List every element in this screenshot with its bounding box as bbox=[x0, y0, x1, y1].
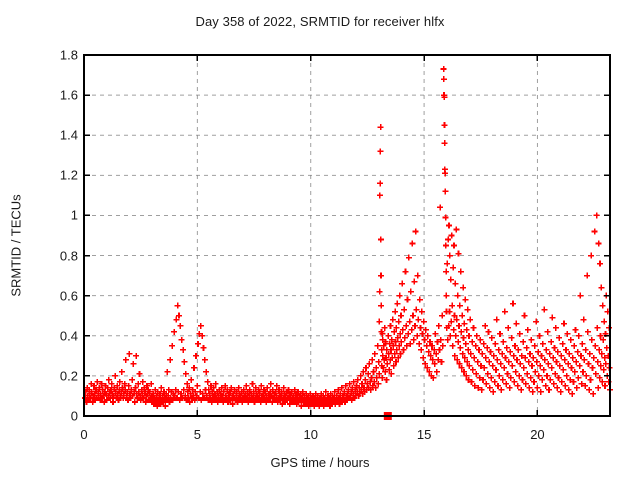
y-axis-tick-labels: 00.20.40.60.811.21.41.61.8 bbox=[0, 0, 78, 480]
chart-figure: Day 358 of 2022, SRMTID for receiver hlf… bbox=[0, 0, 640, 480]
x-tick-label: 0 bbox=[80, 427, 87, 442]
y-tick-label: 1.6 bbox=[32, 88, 78, 103]
y-tick-label: 1.4 bbox=[32, 128, 78, 143]
y-tick-label: 1 bbox=[32, 208, 78, 223]
y-tick-label: 0.8 bbox=[32, 248, 78, 263]
x-tick-label: 10 bbox=[303, 427, 317, 442]
y-tick-label: 0.6 bbox=[32, 288, 78, 303]
x-axis-label: GPS time / hours bbox=[0, 455, 640, 470]
x-tick-label: 5 bbox=[194, 427, 201, 442]
plot-canvas bbox=[0, 0, 640, 480]
y-tick-label: 0 bbox=[32, 409, 78, 424]
chart-title: Day 358 of 2022, SRMTID for receiver hlf… bbox=[0, 14, 640, 29]
x-tick-label: 20 bbox=[530, 427, 544, 442]
y-tick-label: 0.4 bbox=[32, 328, 78, 343]
y-tick-label: 1.2 bbox=[32, 168, 78, 183]
x-tick-label: 15 bbox=[417, 427, 431, 442]
y-tick-label: 0.2 bbox=[32, 368, 78, 383]
data-points bbox=[82, 66, 613, 419]
y-tick-label: 1.8 bbox=[32, 48, 78, 63]
